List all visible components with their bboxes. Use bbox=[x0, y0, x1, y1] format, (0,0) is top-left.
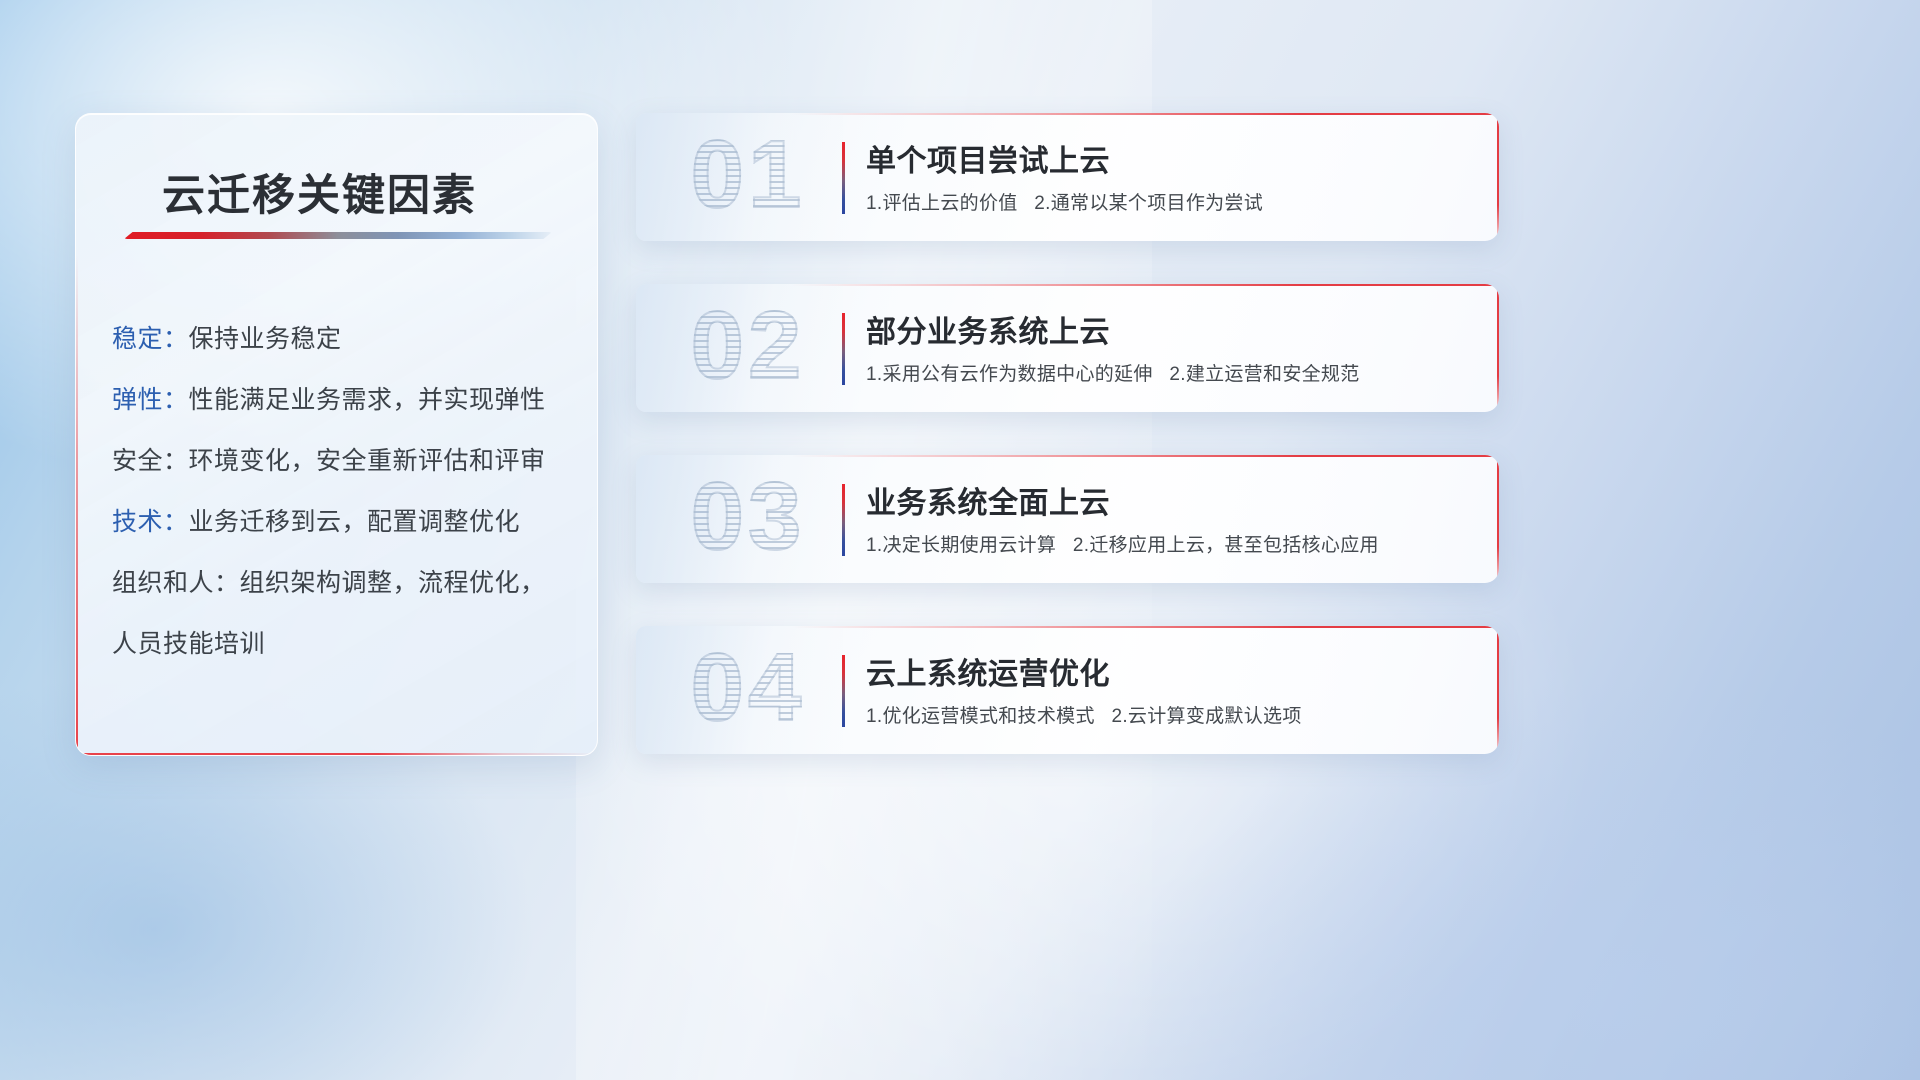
step-number-text: 03 bbox=[691, 462, 806, 572]
factor-label: 安全： bbox=[112, 447, 189, 475]
step-description: 1.决定长期使用云计算 2.迁移应用上云，甚至包括核心应用 bbox=[866, 530, 1379, 557]
factor-text: 人员技能培训 bbox=[112, 630, 265, 658]
factor-label: 稳定： bbox=[112, 325, 189, 353]
step-divider bbox=[842, 484, 845, 556]
factor-label: 弹性： bbox=[112, 386, 189, 414]
factor-row: 安全：环境变化，安全重新评估和评审 bbox=[112, 431, 573, 492]
step-card[interactable]: 02部分业务系统上云1.采用公有云作为数据中心的延伸 2.建立运营和安全规范 bbox=[636, 284, 1499, 412]
step-card[interactable]: 03业务系统全面上云1.决定长期使用云计算 2.迁移应用上云，甚至包括核心应用 bbox=[636, 455, 1499, 583]
factor-label: 组织和人： bbox=[112, 569, 240, 597]
step-number: 02 bbox=[658, 284, 838, 412]
factor-row: 技术：业务迁移到云，配置调整优化 bbox=[112, 492, 573, 553]
step-card[interactable]: 04云上系统运营优化1.优化运营模式和技术模式 2.云计算变成默认选项 bbox=[636, 626, 1499, 754]
factor-text: 保持业务稳定 bbox=[189, 325, 342, 353]
step-title: 单个项目尝试上云 bbox=[866, 136, 1110, 180]
factor-row: 稳定：保持业务稳定 bbox=[112, 309, 573, 370]
step-number-text: 01 bbox=[691, 120, 806, 230]
step-number: 03 bbox=[658, 455, 838, 583]
step-divider bbox=[842, 313, 845, 385]
step-title: 业务系统全面上云 bbox=[866, 478, 1110, 522]
step-title: 云上系统运营优化 bbox=[866, 649, 1110, 693]
factor-text: 环境变化，安全重新评估和评审 bbox=[189, 447, 546, 475]
factor-row: 组织和人：组织架构调整，流程优化， bbox=[112, 553, 573, 614]
step-number: 01 bbox=[658, 113, 838, 241]
factor-text: 业务迁移到云，配置调整优化 bbox=[189, 508, 521, 536]
step-description: 1.采用公有云作为数据中心的延伸 2.建立运营和安全规范 bbox=[866, 359, 1360, 386]
step-divider bbox=[842, 655, 845, 727]
factor-row: 弹性：性能满足业务需求，并实现弹性 bbox=[112, 370, 573, 431]
step-title: 部分业务系统上云 bbox=[866, 307, 1110, 351]
factor-label: 技术： bbox=[112, 508, 189, 536]
step-number: 04 bbox=[658, 626, 838, 754]
step-divider bbox=[842, 142, 845, 214]
key-factors-panel: 云迁移关键因素 稳定：保持业务稳定弹性：性能满足业务需求，并实现弹性安全：环境变… bbox=[75, 113, 598, 756]
title-underline-rule bbox=[124, 232, 552, 239]
step-description: 1.优化运营模式和技术模式 2.云计算变成默认选项 bbox=[866, 701, 1302, 728]
slide-stage: 云迁移关键因素 稳定：保持业务稳定弹性：性能满足业务需求，并实现弹性安全：环境变… bbox=[0, 0, 1920, 1080]
step-card[interactable]: 01单个项目尝试上云1.评估上云的价值 2.通常以某个项目作为尝试 bbox=[636, 113, 1499, 241]
factor-list: 稳定：保持业务稳定弹性：性能满足业务需求，并实现弹性安全：环境变化，安全重新评估… bbox=[112, 309, 573, 675]
step-number-text: 04 bbox=[691, 633, 806, 743]
factor-text: 组织架构调整，流程优化， bbox=[240, 569, 546, 597]
step-description: 1.评估上云的价值 2.通常以某个项目作为尝试 bbox=[866, 188, 1263, 215]
page-title: 云迁移关键因素 bbox=[162, 161, 477, 223]
factor-row: 人员技能培训 bbox=[112, 614, 573, 675]
factor-text: 性能满足业务需求，并实现弹性 bbox=[189, 386, 546, 414]
step-number-text: 02 bbox=[691, 291, 806, 401]
